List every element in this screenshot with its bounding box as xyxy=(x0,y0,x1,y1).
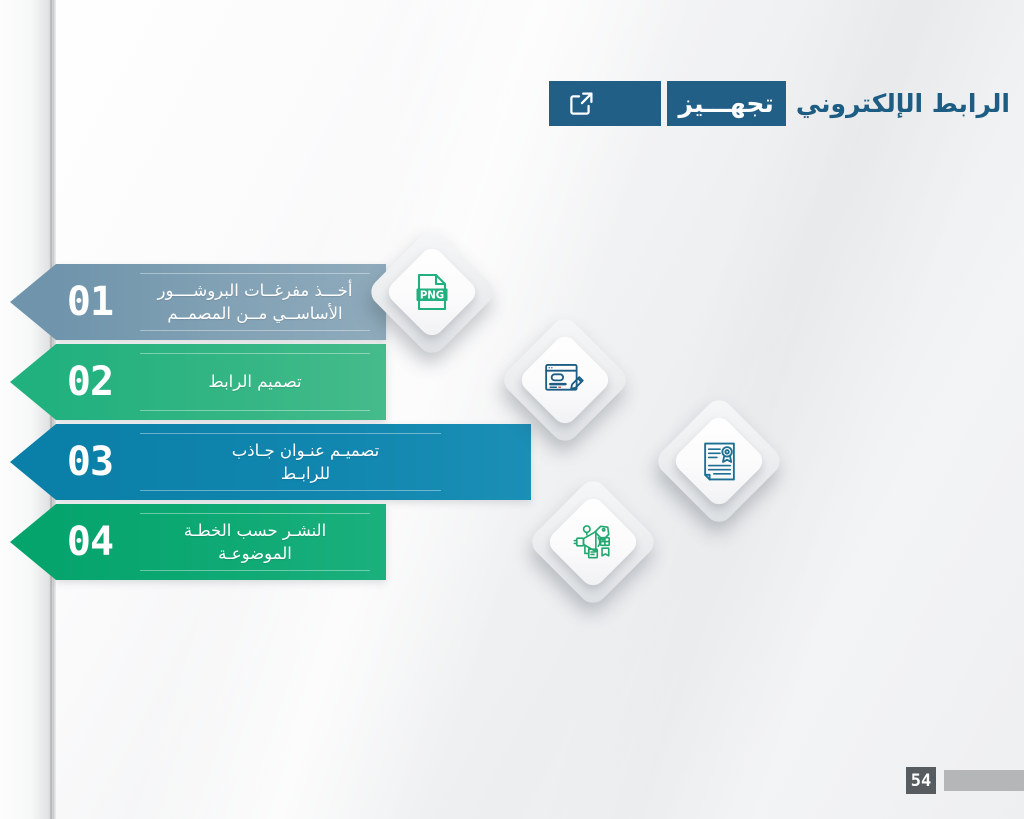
step-rule-top-03 xyxy=(140,433,441,434)
step-row-01[interactable]: 01 أخـــذ مفرغــات البروشــــور الأساســ… xyxy=(56,264,386,340)
step-row-04[interactable]: 04 النشـر حسب الخطـة الموضوعـة xyxy=(56,504,386,580)
step-label-03: تصميـم عنـوان جـاذب للرابـط xyxy=(206,439,406,486)
step-row-03[interactable]: 03 تصميـم عنـوان جـاذب للرابـط xyxy=(56,424,531,500)
web-design-pencil-icon xyxy=(518,333,612,427)
step-body-01: أخـــذ مفرغــات البروشــــور الأساســي م… xyxy=(124,264,386,340)
slide-header: تجهـــيز الرابط الإلكتروني xyxy=(549,81,1024,126)
step-label-02: تصميم الرابط xyxy=(182,370,327,393)
step-icon-diamond-02[interactable] xyxy=(518,333,612,427)
step-rule-top-04 xyxy=(140,513,371,514)
step-icon-diamond-04[interactable] xyxy=(546,495,640,589)
step-rule-bottom-03 xyxy=(140,490,441,491)
svg-text:PNG: PNG xyxy=(420,290,444,301)
step-tip-04 xyxy=(10,504,56,580)
step-label-04: النشـر حسب الخطـة الموضوعـة xyxy=(158,519,352,566)
step-rule-top-01 xyxy=(140,273,371,274)
external-link-icon xyxy=(568,90,595,117)
step-rule-bottom-04 xyxy=(140,570,371,571)
certificate-seal-icon xyxy=(672,414,766,508)
step-rule-bottom-01 xyxy=(140,330,371,331)
step-body-02: تصميم الرابط xyxy=(124,344,386,420)
step-rule-top-02 xyxy=(140,353,371,354)
footer-bar xyxy=(944,770,1024,791)
step-icon-diamond-01[interactable]: PNG xyxy=(385,245,479,339)
step-rule-bottom-02 xyxy=(140,410,371,411)
step-body-04: النشـر حسب الخطـة الموضوعـة xyxy=(124,504,386,580)
marketing-megaphone-icon xyxy=(546,495,640,589)
step-body-03: تصميـم عنـوان جـاذب للرابـط xyxy=(124,424,531,500)
step-tip-03 xyxy=(10,424,56,500)
step-icon-diamond-03[interactable] xyxy=(672,414,766,508)
step-tip-02 xyxy=(10,344,56,420)
step-row-02[interactable]: 02 تصميم الرابط xyxy=(56,344,386,420)
step-number-01: 01 xyxy=(56,279,124,325)
page-number: 54 xyxy=(906,767,936,794)
header-title-highlight: تجهـــيز xyxy=(667,81,786,126)
step-label-01: أخـــذ مفرغــات البروشــــور الأساســي م… xyxy=(132,279,379,326)
step-number-04: 04 xyxy=(56,519,124,565)
external-link-icon-box[interactable] xyxy=(549,81,661,126)
step-number-02: 02 xyxy=(56,359,124,405)
header-title-plain: الرابط الإلكتروني xyxy=(786,81,1024,126)
step-number-03: 03 xyxy=(56,439,124,485)
png-file-icon: PNG xyxy=(385,245,479,339)
slide-canvas: تجهـــيز الرابط الإلكتروني 01 أخـــذ مفر… xyxy=(0,0,1024,819)
step-tip-01 xyxy=(10,264,56,340)
